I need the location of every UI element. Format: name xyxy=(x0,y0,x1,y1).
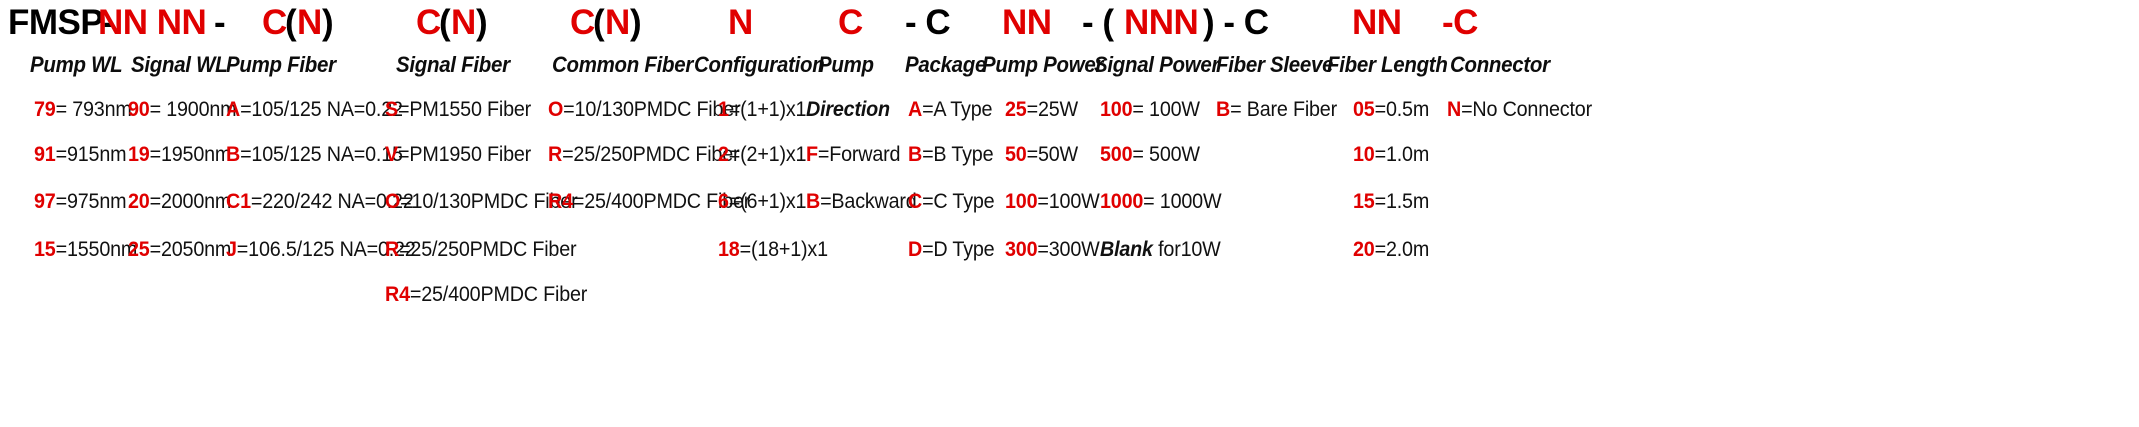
option-pump-wl-91: 91=915nm xyxy=(34,143,126,167)
column-header-package: Package xyxy=(905,52,986,78)
option-value: 1000W xyxy=(1160,190,1222,213)
option-separator: = xyxy=(818,143,829,166)
option-code: J xyxy=(226,238,237,261)
column-header-fiber-length: Fiber Length xyxy=(1327,52,1448,78)
option-signal-wl-90: 90= 1900nm xyxy=(128,98,236,122)
option-pump-F: F=Forward xyxy=(806,143,900,167)
option-code: 100 xyxy=(1005,190,1037,213)
option-separator: = xyxy=(1132,143,1149,166)
option-code: S xyxy=(385,98,398,121)
option-separator: = xyxy=(1375,238,1386,261)
option-value: (2+1)x1 xyxy=(740,143,806,166)
option-code: 10 xyxy=(1353,143,1375,166)
option-separator: = xyxy=(922,190,933,213)
option-code: 79 xyxy=(34,98,56,121)
option-code: 25 xyxy=(128,238,150,261)
option-separator: = xyxy=(922,238,933,261)
option-value: 2000nm xyxy=(161,190,231,213)
option-value: 105/125 NA=0.22 xyxy=(251,98,402,121)
code-segment: ( xyxy=(593,2,604,44)
column-header-configuration: Configuration xyxy=(694,52,824,78)
code-segment: C xyxy=(262,2,287,44)
option-value: 25/250PMDC Fiber xyxy=(573,143,739,166)
option-separator: = xyxy=(573,190,584,213)
option-value: 25/400PMDC Fiber xyxy=(421,283,587,306)
option-code: 15 xyxy=(34,238,56,261)
option-configuration-2: 2=(2+1)x1 xyxy=(718,143,806,167)
option-value: Forward xyxy=(829,143,900,166)
column-header-signal-wl: Signal WL xyxy=(131,52,227,78)
option-separator: = xyxy=(1230,98,1247,121)
option-code: R4 xyxy=(548,190,573,213)
option-value: A Type xyxy=(933,98,992,121)
option-package-D: D=D Type xyxy=(908,238,994,262)
code-segment: ) - C xyxy=(1203,2,1269,44)
code-segment: C xyxy=(570,2,595,44)
option-value: 300W xyxy=(1049,238,1100,261)
option-value: 1950nm xyxy=(161,143,231,166)
option-code: 19 xyxy=(128,143,150,166)
option-signal-fiber-S: S=PM1550 Fiber xyxy=(385,98,531,122)
option-value: PM1950 Fiber xyxy=(409,143,531,166)
option-separator: = xyxy=(1375,143,1386,166)
option-fiber-sleeve-B: B= Bare Fiber xyxy=(1216,98,1337,122)
option-signal-power-100: 100= 100W xyxy=(1100,98,1200,122)
option-configuration-6: 6=(6+1)x1 xyxy=(718,190,806,214)
code-segment: - C xyxy=(905,2,950,44)
option-signal-power-blank: Blank for10W xyxy=(1100,238,1221,262)
option-separator: = xyxy=(1037,238,1048,261)
option-code: B xyxy=(806,190,820,213)
code-segment: ) xyxy=(476,2,487,44)
option-code: C xyxy=(908,190,922,213)
option-code: 91 xyxy=(34,143,56,166)
option-separator: = xyxy=(1037,190,1048,213)
option-value: Direction xyxy=(806,98,890,121)
option-package-B: B=B Type xyxy=(908,143,993,167)
option-separator: = xyxy=(240,98,251,121)
column-header-connector: Connector xyxy=(1450,52,1550,78)
option-code: O xyxy=(385,190,400,213)
option-signal-fiber-R: R=25/250PMDC Fiber xyxy=(385,238,576,262)
code-segment: -C xyxy=(1442,2,1478,44)
option-separator: = xyxy=(1375,98,1386,121)
column-header-common-fiber: Common Fiber xyxy=(552,52,693,78)
option-pump-wl-97: 97=975nm xyxy=(34,190,126,214)
option-code: 50 xyxy=(1005,143,1027,166)
option-value: 1.5m xyxy=(1386,190,1429,213)
option-signal-wl-20: 20=2000nm xyxy=(128,190,231,214)
option-value: C Type xyxy=(933,190,994,213)
option-pump-B: B=Backward xyxy=(806,190,917,214)
option-configuration-18: 18=(18+1)x1 xyxy=(718,238,828,262)
option-separator: = xyxy=(150,143,161,166)
option-common-fiber-R: R=25/250PMDC Fiber xyxy=(548,143,739,167)
code-segment: - xyxy=(214,2,225,44)
column-header-pump: Pump xyxy=(818,52,874,78)
code-segment: N xyxy=(728,2,753,44)
option-code: R xyxy=(548,143,562,166)
option-separator: = xyxy=(251,190,262,213)
option-value: Blank for10W xyxy=(1100,238,1221,261)
option-separator: = xyxy=(820,190,831,213)
option-pump-wl-15: 15=1550nm xyxy=(34,238,137,262)
option-code: F xyxy=(806,143,818,166)
option-code: 20 xyxy=(128,190,150,213)
option-code: B xyxy=(226,143,240,166)
option-value: (18+1)x1 xyxy=(751,238,828,261)
option-separator: = xyxy=(1461,98,1472,121)
option-code: 18 xyxy=(718,238,740,261)
option-signal-wl-19: 19=1950nm xyxy=(128,143,231,167)
option-value: D Type xyxy=(933,238,994,261)
option-value: 25W xyxy=(1038,98,1078,121)
option-separator: = xyxy=(150,238,161,261)
option-separator: = xyxy=(56,238,67,261)
column-header-pump-fiber: Pump Fiber xyxy=(226,52,336,78)
code-segment: N xyxy=(605,2,630,44)
option-separator: = xyxy=(1132,98,1149,121)
option-fiber-length-05: 05=0.5m xyxy=(1353,98,1429,122)
option-package-C: C=C Type xyxy=(908,190,994,214)
code-segment: ) xyxy=(322,2,333,44)
option-connector-N: N=No Connector xyxy=(1447,98,1592,122)
option-separator: = xyxy=(400,190,411,213)
option-configuration-1: 1=(1+1)x1 xyxy=(718,98,806,122)
option-separator: = xyxy=(237,238,248,261)
option-code: C1 xyxy=(226,190,251,213)
code-segment: N xyxy=(451,2,476,44)
code-segment: ( xyxy=(285,2,296,44)
code-segment: NN xyxy=(1002,2,1052,44)
option-separator: = xyxy=(398,143,409,166)
option-value: PM1550 Fiber xyxy=(409,98,531,121)
column-header-signal-power: Signal Power xyxy=(1094,52,1219,78)
option-pump-blank: Direction xyxy=(806,98,890,122)
option-code: O xyxy=(548,98,563,121)
option-code: 97 xyxy=(34,190,56,213)
option-code: R4 xyxy=(385,283,410,306)
option-code: 1000 xyxy=(1100,190,1143,213)
column-header-pump-power: Pump Power xyxy=(982,52,1103,78)
option-code: 25 xyxy=(1005,98,1027,121)
code-segment: NNN xyxy=(1124,2,1198,44)
option-separator: = xyxy=(1027,143,1038,166)
option-value: (6+1)x1 xyxy=(740,190,806,213)
option-code: B xyxy=(908,143,922,166)
option-code: 500 xyxy=(1100,143,1132,166)
option-code: V xyxy=(385,143,398,166)
option-separator: = xyxy=(398,98,409,121)
blank-keyword: Blank xyxy=(1100,238,1153,261)
option-code: D xyxy=(908,238,922,261)
option-separator: = xyxy=(729,190,740,213)
option-separator: = xyxy=(729,98,740,121)
option-separator: = xyxy=(56,190,67,213)
option-value: (1+1)x1 xyxy=(740,98,806,121)
column-header-fiber-sleeve: Fiber Sleeve xyxy=(1216,52,1333,78)
option-pump-fiber-A: A=105/125 NA=0.22 xyxy=(226,98,403,122)
option-code: 6 xyxy=(718,190,729,213)
option-code: 100 xyxy=(1100,98,1132,121)
option-fiber-length-15: 15=1.5m xyxy=(1353,190,1429,214)
option-fiber-length-10: 10=1.0m xyxy=(1353,143,1429,167)
option-value: 1550nm xyxy=(67,238,137,261)
option-separator: = xyxy=(56,98,73,121)
code-segment: NN NN xyxy=(98,2,206,44)
option-value: 915nm xyxy=(67,143,126,166)
option-pump-power-50: 50=50W xyxy=(1005,143,1078,167)
option-signal-power-1000: 1000= 1000W xyxy=(1100,190,1221,214)
option-code: 90 xyxy=(128,98,150,121)
option-value: 100W xyxy=(1049,190,1100,213)
option-value: Bare Fiber xyxy=(1247,98,1337,121)
column-header-pump-wl: Pump WL xyxy=(30,52,122,78)
option-pump-fiber-B: B=105/125 NA=0.15 xyxy=(226,143,403,167)
option-code: 20 xyxy=(1353,238,1375,261)
option-pump-power-25: 25=25W xyxy=(1005,98,1078,122)
option-code: 300 xyxy=(1005,238,1037,261)
option-signal-fiber-R4: R4=25/400PMDC Fiber xyxy=(385,283,587,307)
option-separator: = xyxy=(150,98,167,121)
option-value: 793nm xyxy=(72,98,131,121)
option-code: N xyxy=(1447,98,1461,121)
option-separator: = xyxy=(399,238,410,261)
option-code: 1 xyxy=(718,98,729,121)
option-pump-wl-79: 79= 793nm xyxy=(34,98,132,122)
option-code: 2 xyxy=(718,143,729,166)
option-value: 1.0m xyxy=(1386,143,1429,166)
option-separator: = xyxy=(410,283,421,306)
option-separator: = xyxy=(1375,190,1386,213)
option-separator: = xyxy=(922,143,933,166)
option-separator: = xyxy=(150,190,161,213)
option-fiber-length-20: 20=2.0m xyxy=(1353,238,1429,262)
option-common-fiber-O: O=10/130PMDC Fiber xyxy=(548,98,740,122)
option-separator: = xyxy=(56,143,67,166)
option-signal-wl-25: 25=2050nm xyxy=(128,238,231,262)
blank-suffix: for10W xyxy=(1153,238,1221,261)
option-separator: = xyxy=(563,98,574,121)
option-separator: = xyxy=(729,143,740,166)
code-segment: C xyxy=(838,2,863,44)
option-value: B Type xyxy=(933,143,993,166)
option-code: 05 xyxy=(1353,98,1375,121)
option-value: 2.0m xyxy=(1386,238,1429,261)
code-segment: NN xyxy=(1352,2,1402,44)
part-number-code-line: FMSP-NN NN - C(N)C(N)C(N)NC- CNN- (NNN) … xyxy=(0,0,2139,46)
option-signal-fiber-V: V=PM1950 Fiber xyxy=(385,143,531,167)
option-separator: = xyxy=(240,143,251,166)
code-segment: C xyxy=(416,2,441,44)
option-value: 0.5m xyxy=(1386,98,1429,121)
option-separator: = xyxy=(922,98,933,121)
option-separator: = xyxy=(562,143,573,166)
option-signal-power-500: 500= 500W xyxy=(1100,143,1200,167)
option-value: 975nm xyxy=(67,190,126,213)
option-value: 100W xyxy=(1149,98,1200,121)
option-pump-power-100: 100=100W xyxy=(1005,190,1100,214)
option-code: A xyxy=(908,98,922,121)
option-value: 500W xyxy=(1149,143,1200,166)
option-code: B xyxy=(1216,98,1230,121)
option-separator: = xyxy=(740,238,751,261)
option-value: 2050nm xyxy=(161,238,231,261)
option-separator: = xyxy=(1027,98,1038,121)
option-code: R xyxy=(385,238,399,261)
option-value: Backward xyxy=(831,190,916,213)
option-separator: = xyxy=(1143,190,1160,213)
option-code: 15 xyxy=(1353,190,1375,213)
option-code: A xyxy=(226,98,240,121)
option-value: No Connector xyxy=(1472,98,1592,121)
option-package-A: A=A Type xyxy=(908,98,992,122)
option-value: 25/250PMDC Fiber xyxy=(410,238,576,261)
code-segment: ( xyxy=(439,2,450,44)
option-value: 10/130PMDC Fiber xyxy=(575,98,741,121)
option-pump-power-300: 300=300W xyxy=(1005,238,1100,262)
code-segment: ) xyxy=(630,2,641,44)
option-value: 105/125 NA=0.15 xyxy=(251,143,402,166)
code-segment: - ( xyxy=(1082,2,1114,44)
option-value: 50W xyxy=(1038,143,1078,166)
column-header-signal-fiber: Signal Fiber xyxy=(396,52,510,78)
code-segment: N xyxy=(297,2,322,44)
